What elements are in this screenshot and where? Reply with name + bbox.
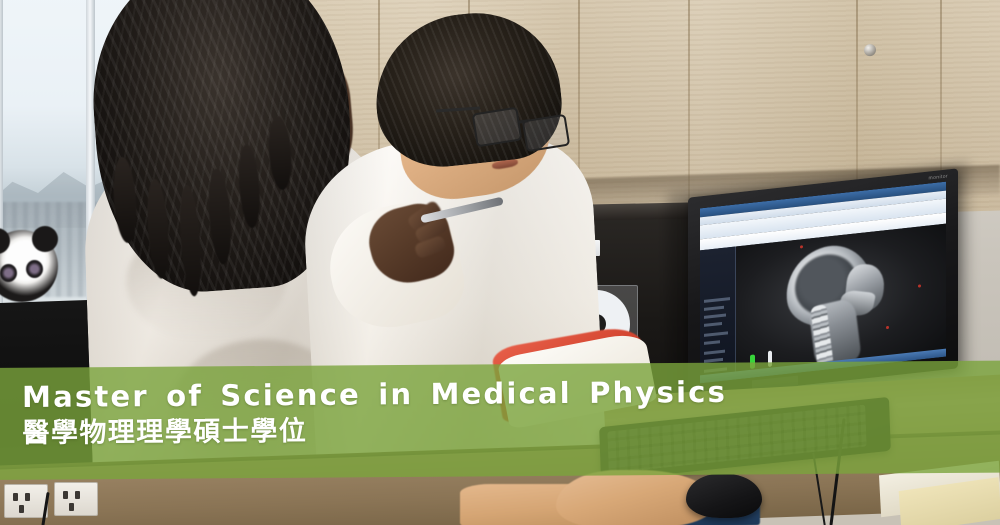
glasses-lens-left: [472, 107, 523, 148]
glasses-lens-right: [522, 114, 570, 152]
program-banner: monitor: [0, 0, 1000, 525]
computer-mouse[interactable]: [686, 474, 762, 518]
program-title-english: Master of Science in Medical Physics: [22, 376, 782, 412]
program-title-chinese: 醫學物理理學碩士學位: [22, 412, 782, 451]
banner-text-block: Master of Science in Medical Physics 醫學物…: [22, 376, 782, 451]
power-outlet-2: [54, 482, 98, 516]
monitor-screen: [700, 182, 946, 384]
power-outlet-1: [4, 484, 48, 518]
monitor-brand-label: monitor: [929, 173, 948, 181]
cabinet-knob: [864, 44, 876, 56]
